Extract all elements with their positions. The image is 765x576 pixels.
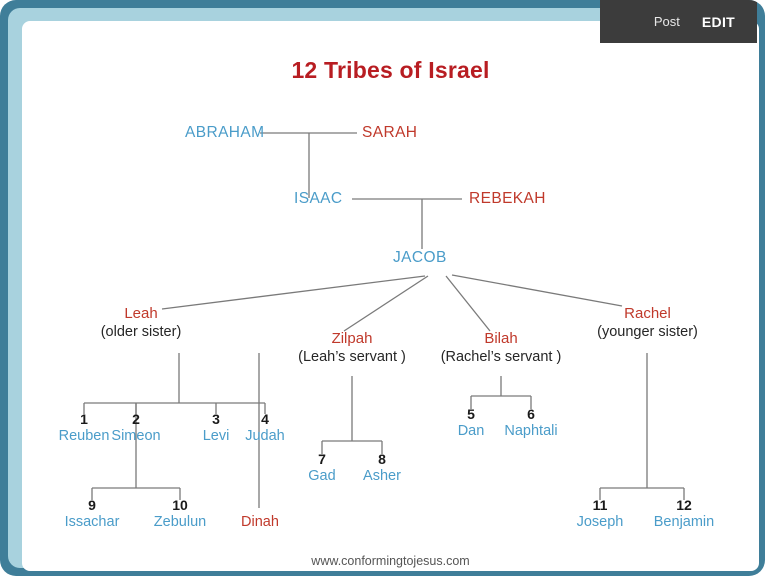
node-child-issachar: 9 Issachar bbox=[50, 498, 134, 530]
family-tree-diagram: 12 Tribes of Israel ABRAHAM SARAH ISAAC … bbox=[22, 21, 759, 571]
child-issachar-number: 9 bbox=[50, 498, 134, 514]
node-sarah-label: SARAH bbox=[362, 124, 417, 141]
child-zebulun-name: Zebulun bbox=[138, 514, 222, 530]
child-dinah-name: Dinah bbox=[221, 514, 299, 530]
tree-connector-lines bbox=[22, 21, 759, 571]
node-rebekah: REBEKAH bbox=[469, 190, 546, 207]
node-abraham-label: ABRAHAM bbox=[185, 124, 264, 141]
mother-leah-note: (older sister) bbox=[66, 324, 216, 340]
node-rebekah-label: REBEKAH bbox=[469, 190, 546, 207]
mother-bilah-note: (Rachel’s servant ) bbox=[418, 349, 584, 365]
node-child-dinah: Dinah bbox=[221, 514, 299, 530]
mother-rachel-note: (younger sister) bbox=[570, 324, 725, 340]
child-benjamin-number: 12 bbox=[639, 498, 729, 514]
mother-zilpah-note: (Leah’s servant ) bbox=[269, 349, 435, 365]
node-abraham: ABRAHAM bbox=[185, 124, 264, 141]
node-mother-zilpah: Zilpah (Leah’s servant ) bbox=[269, 331, 435, 365]
node-child-naphtali: 6 Naphtali bbox=[491, 407, 571, 439]
node-mother-rachel: Rachel (younger sister) bbox=[570, 306, 725, 340]
child-judah-name: Judah bbox=[229, 428, 301, 444]
child-issachar-name: Issachar bbox=[50, 514, 134, 530]
node-child-asher: 8 Asher bbox=[347, 452, 417, 484]
mother-bilah-name: Bilah bbox=[418, 331, 584, 348]
editor-toolbar: Post EDIT bbox=[600, 0, 757, 43]
node-jacob-label: JACOB bbox=[393, 249, 447, 266]
node-child-zebulun: 10 Zebulun bbox=[138, 498, 222, 530]
edit-button[interactable]: EDIT bbox=[702, 14, 735, 30]
child-joseph-name: Joseph bbox=[560, 514, 640, 530]
node-child-simeon: 2 Simeon bbox=[96, 412, 176, 444]
child-naphtali-name: Naphtali bbox=[491, 423, 571, 439]
child-zebulun-number: 10 bbox=[138, 498, 222, 514]
child-benjamin-name: Benjamin bbox=[639, 514, 729, 530]
diagram-canvas: 12 Tribes of Israel ABRAHAM SARAH ISAAC … bbox=[22, 21, 759, 571]
link-jacob-bilah bbox=[446, 276, 490, 331]
child-joseph-number: 11 bbox=[560, 498, 640, 514]
node-child-benjamin: 12 Benjamin bbox=[639, 498, 729, 530]
child-simeon-number: 2 bbox=[96, 412, 176, 428]
child-asher-number: 8 bbox=[347, 452, 417, 468]
node-child-joseph: 11 Joseph bbox=[560, 498, 640, 530]
page-title: 12 Tribes of Israel bbox=[22, 57, 759, 84]
link-jacob-rachel bbox=[452, 275, 622, 306]
node-sarah: SARAH bbox=[362, 124, 417, 141]
node-mother-bilah: Bilah (Rachel’s servant ) bbox=[418, 331, 584, 365]
footer-source-url: www.conformingtojesus.com bbox=[22, 554, 759, 568]
frame-inner-edge: 12 Tribes of Israel ABRAHAM SARAH ISAAC … bbox=[8, 8, 757, 568]
image-frame: 12 Tribes of Israel ABRAHAM SARAH ISAAC … bbox=[0, 0, 765, 576]
mother-leah-name: Leah bbox=[66, 306, 216, 323]
post-button[interactable]: Post bbox=[654, 14, 680, 29]
node-isaac-label: ISAAC bbox=[294, 190, 343, 207]
node-jacob: JACOB bbox=[393, 249, 447, 266]
child-judah-number: 4 bbox=[229, 412, 301, 428]
node-isaac: ISAAC bbox=[294, 190, 343, 207]
child-naphtali-number: 6 bbox=[491, 407, 571, 423]
node-child-judah: 4 Judah bbox=[229, 412, 301, 444]
node-mother-leah: Leah (older sister) bbox=[66, 306, 216, 340]
child-simeon-name: Simeon bbox=[96, 428, 176, 444]
mother-rachel-name: Rachel bbox=[570, 306, 725, 323]
mother-zilpah-name: Zilpah bbox=[269, 331, 435, 348]
child-asher-name: Asher bbox=[347, 468, 417, 484]
